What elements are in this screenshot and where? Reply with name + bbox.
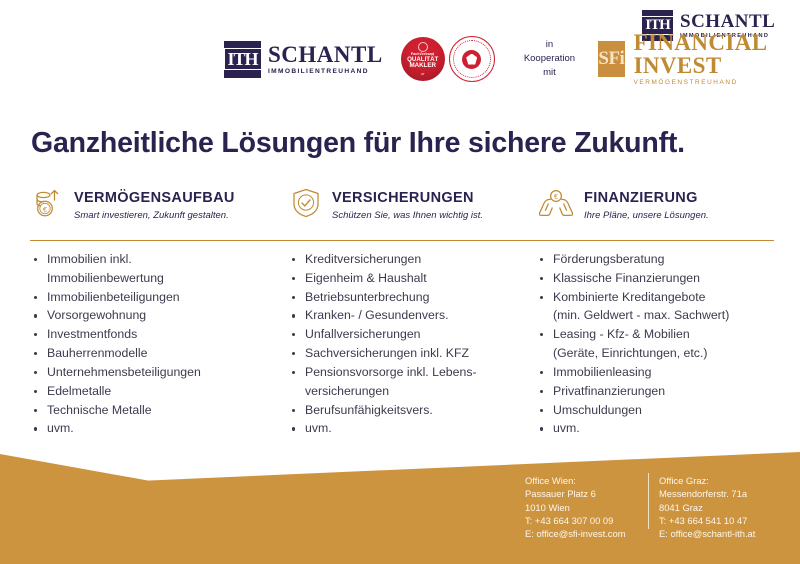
list-finanzierung: Förderungsberatung Klassische Finanzieru… <box>537 250 775 438</box>
bullet-list: Förderungsberatung Klassische Finanzieru… <box>537 250 775 438</box>
category-header-text: FINANZIERUNG Ihre Pläne, unsere Lösungen… <box>584 189 709 221</box>
seal-top-text: FachVerband <box>411 52 435 56</box>
certification-seals: FachVerband QUALITÄTMAKLER AT <box>401 36 495 82</box>
page-headline: Ganzheitliche Lösungen für Ihre sichere … <box>31 128 776 159</box>
list-item: Berufsunfähigkeitsvers. <box>289 401 537 420</box>
list-item: uvm. <box>537 419 775 438</box>
list-item: Vorsorgewohnung <box>31 306 289 325</box>
list-item: Technische Metalle <box>31 401 289 420</box>
footer-decorative-wedges <box>0 440 800 564</box>
list-item: Edelmetalle <box>31 382 289 401</box>
sfi-monogram-text: SFi <box>598 48 624 70</box>
category-header-vermoegensaufbau: € VERMÖGENSAUFBAU Smart investieren, Zuk… <box>31 186 289 225</box>
list-item: Umschuldungen <box>537 401 775 420</box>
list-item-continuation: (Geräte, Einrichtungen, etc.) <box>537 344 775 363</box>
list-item: Sachversicherungen inkl. KFZ <box>289 344 537 363</box>
svg-text:€: € <box>43 205 48 214</box>
category-subtitle: Schützen Sie, was Ihnen wichtig ist. <box>332 210 483 221</box>
category-subtitle: Smart investieren, Zukunft gestalten. <box>74 210 235 221</box>
ith-brand-name: SCHANTL <box>680 12 775 31</box>
sfi-brand-subtitle: VERMÖGENSTREUHAND <box>634 80 800 86</box>
category-header-versicherungen: VERSICHERUNGEN Schützen Sie, was Ihnen w… <box>289 186 537 225</box>
category-title: FINANZIERUNG <box>584 190 698 206</box>
list-item: Immobilien inkl. <box>31 250 289 269</box>
qualitaets-makler-seal-icon: FachVerband QUALITÄTMAKLER AT <box>401 37 445 81</box>
ith-monogram-icon: ITH <box>224 41 261 78</box>
list-item-continuation: (min. Geldwert - max. Sachwert) <box>537 306 775 325</box>
wko-crest-seal-icon <box>449 36 495 82</box>
list-item: Förderungsberatung <box>537 250 775 269</box>
cooperation-label: inKooperationmit <box>523 38 576 79</box>
category-subtitle: Ihre Pläne, unsere Lösungen. <box>584 210 709 221</box>
list-item: Leasing - Kfz- & Mobilien <box>537 325 775 344</box>
list-item-continuation: versicherungen <box>289 382 537 401</box>
svg-text:€: € <box>554 194 558 201</box>
header-logo-bar: ITH SCHANTL IMMOBILIENTREUHAND ITH SCHAN… <box>0 0 800 112</box>
seal-bottom-text: AT <box>421 72 425 76</box>
category-header-text: VERSICHERUNGEN Schützen Sie, was Ihnen w… <box>332 189 483 221</box>
list-item: Kranken- / Gesundenvers. <box>289 306 537 325</box>
list-item: Immobilienleasing <box>537 363 775 382</box>
list-item: Investmentfonds <box>31 325 289 344</box>
shield-check-icon <box>289 186 323 225</box>
list-item: uvm. <box>289 419 537 438</box>
logo-sfi-financial-invest: SFi FINANCIAL INVEST VERMÖGENSTREUHAND <box>598 31 800 86</box>
seal-main-text: QUALITÄTMAKLER <box>407 57 438 70</box>
list-item: Eigenheim & Haushalt <box>289 269 537 288</box>
list-item: Unfallversicherungen <box>289 325 537 344</box>
category-header-text: VERMÖGENSAUFBAU Smart investieren, Zukun… <box>74 189 235 221</box>
list-item: Kreditversicherungen <box>289 250 537 269</box>
bullet-list: Immobilien inkl. Immobilienbewertung Imm… <box>31 250 289 438</box>
hands-holding-coin-icon: € <box>537 186 575 225</box>
list-versicherungen: Kreditversicherungen Eigenheim & Haushal… <box>289 250 537 438</box>
list-item: Bauherrenmodelle <box>31 344 289 363</box>
footer-wedge-shapes <box>0 440 800 564</box>
partner-logo-row: ITH SCHANTL IMMOBILIENTREUHAND FachVerba… <box>224 35 800 83</box>
list-item: Pensionsvorsorge inkl. Lebens- <box>289 363 537 382</box>
sfi-monogram-icon: SFi <box>598 41 624 77</box>
list-item: Immobilienbeteiligungen <box>31 288 289 307</box>
ith-brand-name: SCHANTL <box>268 43 383 66</box>
list-item: Privatfinanzierungen <box>537 382 775 401</box>
category-headers: € VERMÖGENSAUFBAU Smart investieren, Zuk… <box>31 186 775 225</box>
list-item: Betriebsunterbrechung <box>289 288 537 307</box>
list-item-continuation: Immobilienbewertung <box>31 269 289 288</box>
bullet-list: Kreditversicherungen Eigenheim & Haushal… <box>289 250 537 438</box>
coins-growth-euro-icon: € <box>31 186 65 225</box>
category-title: VERSICHERUNGEN <box>332 190 474 206</box>
category-header-finanzierung: € FINANZIERUNG Ihre Pläne, unsere Lösung… <box>537 186 775 225</box>
category-lists: Immobilien inkl. Immobilienbewertung Imm… <box>31 250 775 438</box>
seal-crest-shape <box>462 50 481 69</box>
ith-monogram-text: ITH <box>224 48 262 70</box>
section-divider <box>30 240 774 241</box>
sfi-brand-name: FINANCIAL INVEST <box>634 31 800 77</box>
ith-brand-subtitle: IMMOBILIENTREUHAND <box>268 69 383 76</box>
sfi-wordmark: FINANCIAL INVEST VERMÖGENSTREUHAND <box>634 31 800 86</box>
list-item: uvm. <box>31 419 289 438</box>
logo-ith-schantl-main: ITH SCHANTL IMMOBILIENTREUHAND <box>224 41 383 78</box>
list-item: Kombinierte Kreditangebote <box>537 288 775 307</box>
list-item: Unternehmensbeteiligungen <box>31 363 289 382</box>
ith-wordmark: SCHANTL IMMOBILIENTREUHAND <box>268 43 383 76</box>
list-item: Klassische Finanzierungen <box>537 269 775 288</box>
category-title: VERMÖGENSAUFBAU <box>74 190 235 206</box>
list-vermoegensaufbau: Immobilien inkl. Immobilienbewertung Imm… <box>31 250 289 438</box>
